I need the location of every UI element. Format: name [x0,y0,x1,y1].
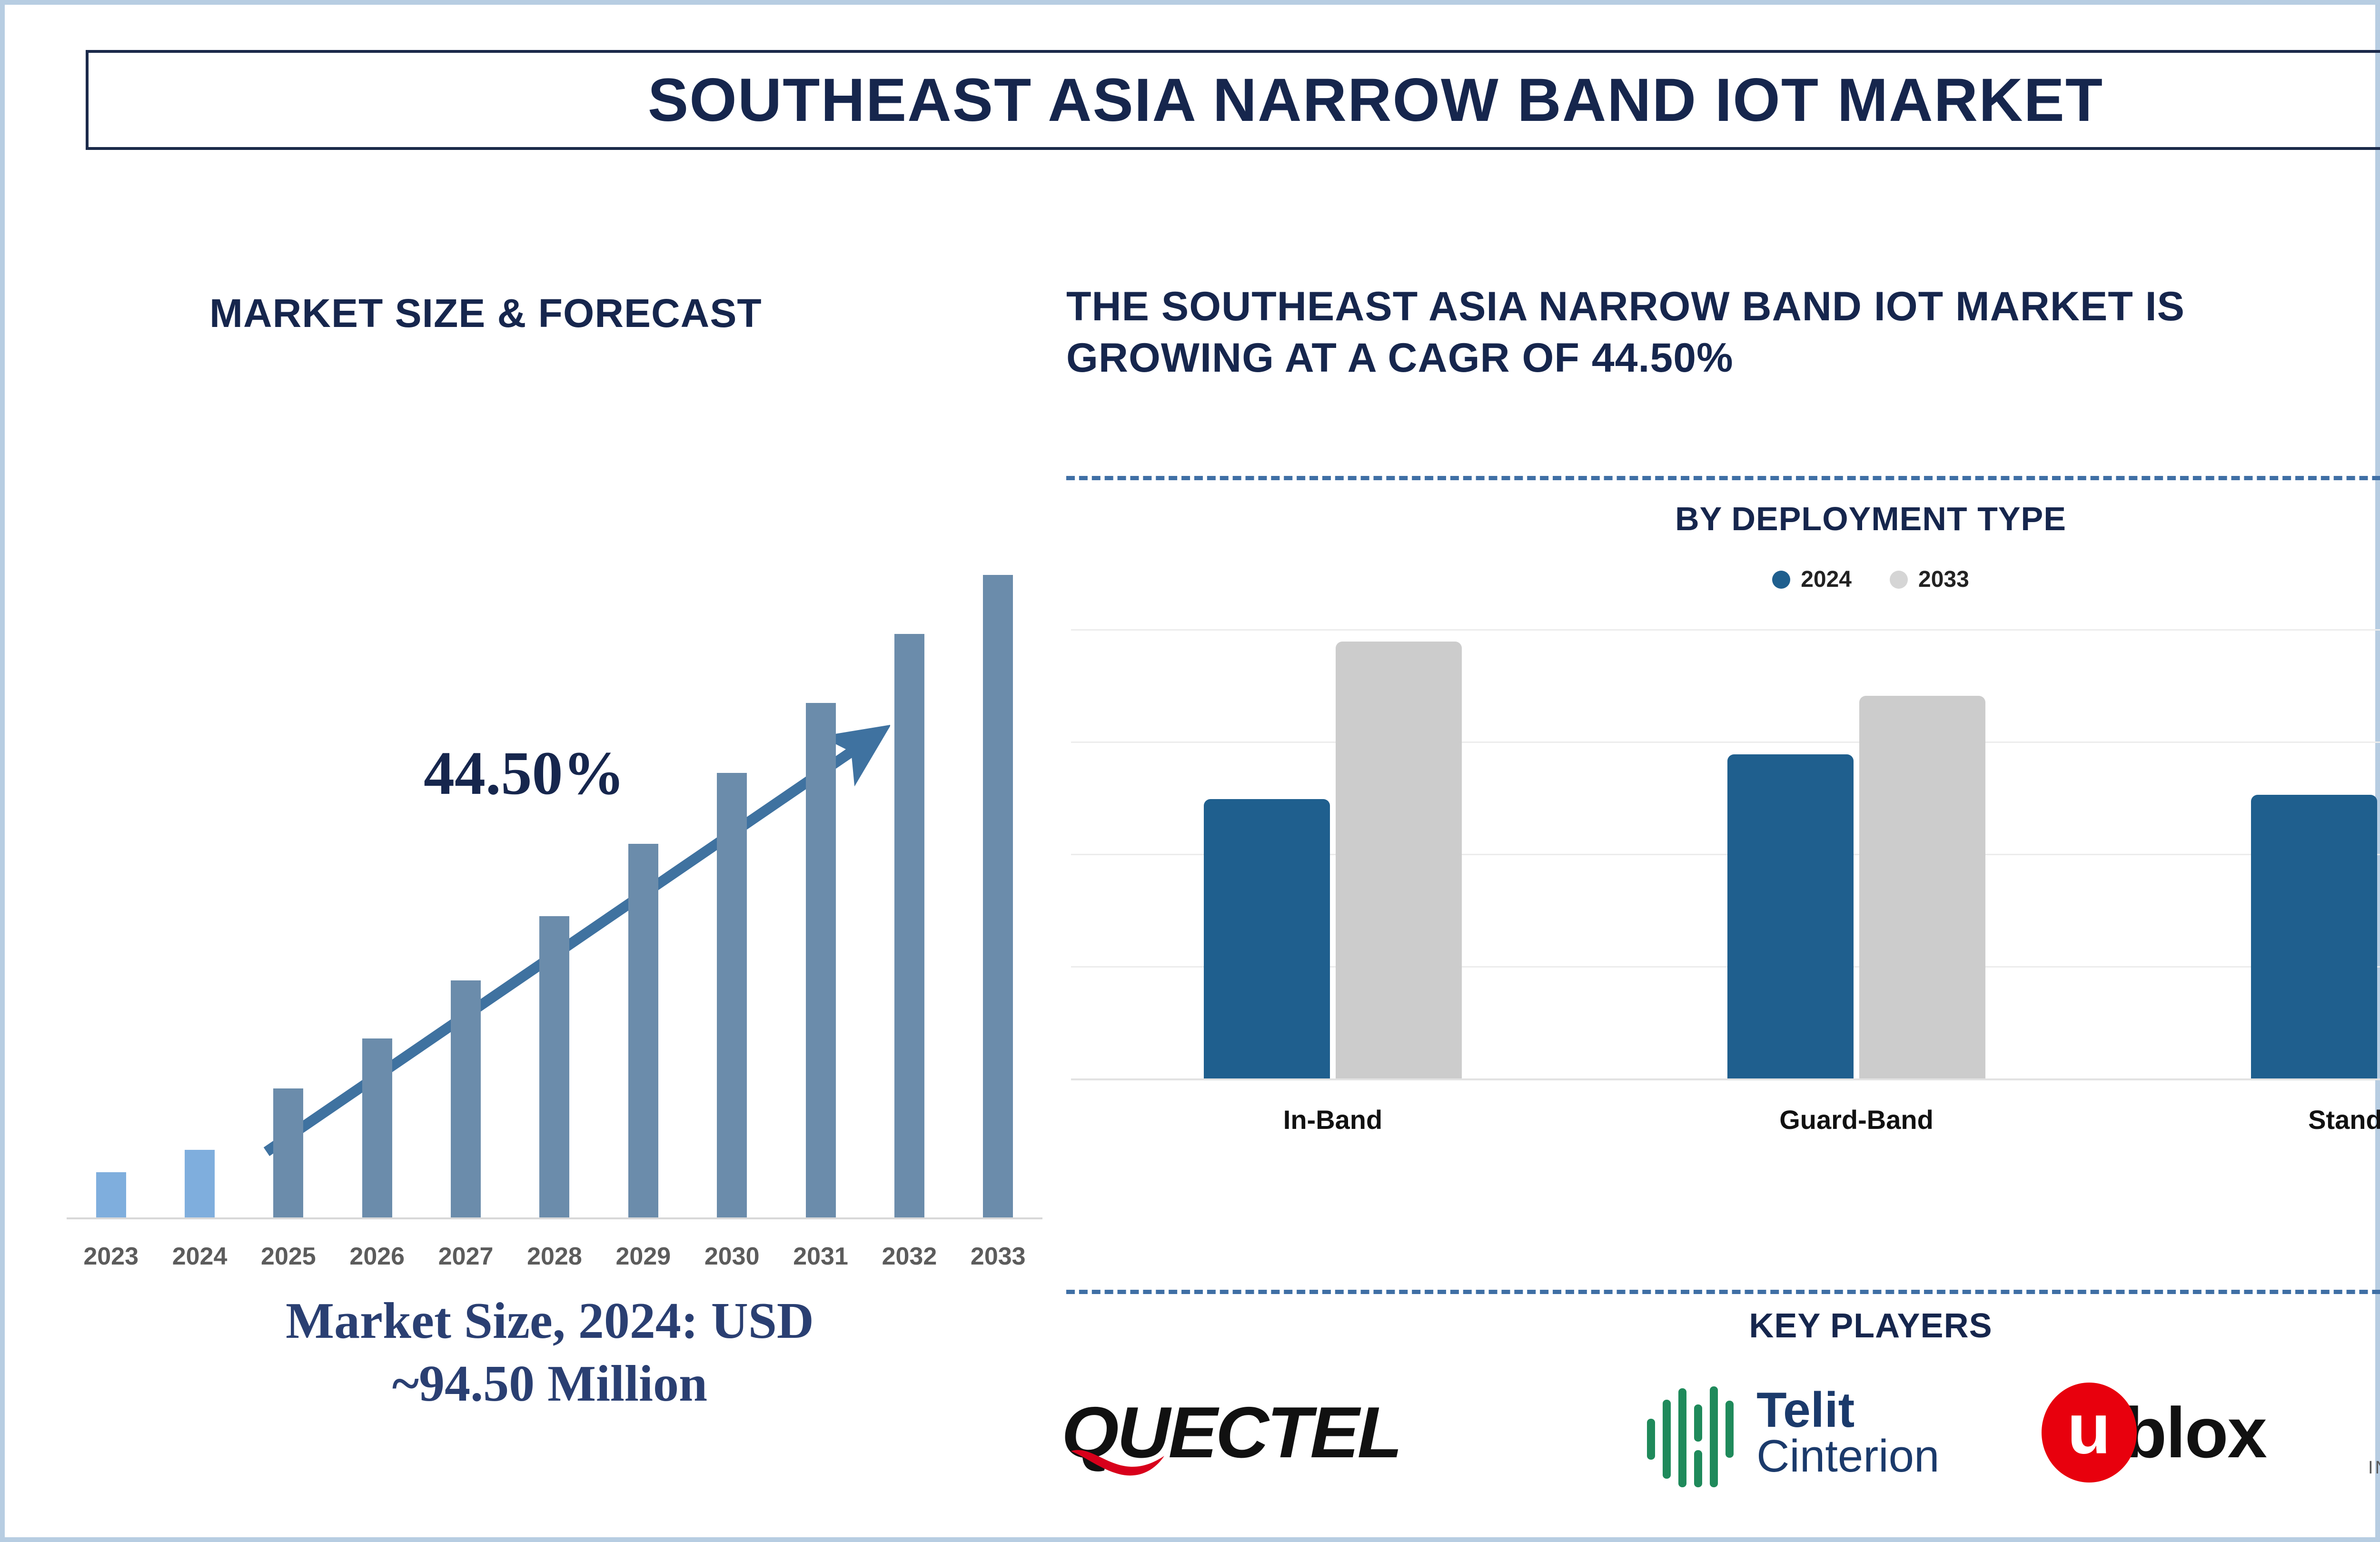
legend-item-2033[interactable]: 2033 [1890,566,1969,593]
legend-label-2033: 2033 [1918,566,1969,593]
page-title-box: SOUTHEAST ASIA NARROW BAND IOT MARKET [86,50,2380,150]
bar-2032 [894,634,924,1218]
bar-in-band-2033 [1336,642,1462,1078]
deployment-category-axis: In-Band Guard-Band Standalone [1071,1104,2380,1135]
ublox-wordmark: blox [2123,1392,2266,1474]
axis-tick-2023: 2023 [67,1242,155,1271]
key-players-heading: KEY PLAYERS [1066,1306,2380,1345]
telit-soundwave-icon [1644,1378,1744,1487]
bar-column [510,562,599,1218]
market-size-year-axis: 2023 2024 2025 2026 2027 2028 2029 2030 … [67,1242,1042,1271]
bar-guard-band-2024 [1727,754,1854,1078]
logo-ublox[interactable]: u blox [2042,1361,2266,1504]
deployment-bar-groups [1071,628,2380,1078]
bar-2024 [185,1150,215,1218]
market-size-forecast-heading: MARKET SIZE & FORECAST [209,290,762,336]
cinterion-wordmark: Cinterion [1756,1434,1939,1478]
bar-column [688,562,776,1218]
market-size-bars [67,562,1042,1218]
legend-dot-2024 [1772,571,1790,589]
axis-tick-2030: 2030 [688,1242,776,1271]
infographic-page: SOUTHEAST ASIA NARROW BAND IOT MARKET MA… [0,0,2380,1542]
bar-group-guard-band [1595,628,2118,1078]
category-label-standalone: Standalone [2118,1104,2380,1135]
ublox-u-letter: u [2067,1387,2111,1470]
axis-tick-2032: 2032 [865,1242,953,1271]
bar-2029 [628,844,658,1218]
market-size-2024-summary: Market Size, 2024: USD ~94.50 Million [52,1290,1047,1415]
bar-column [244,562,333,1218]
axis-tick-2024: 2024 [155,1242,244,1271]
bar-column [67,562,155,1218]
deployment-type-heading: BY DEPLOYMENT TYPE [1066,500,2380,538]
axis-tick-2025: 2025 [244,1242,333,1271]
deployment-legend: 2024 2033 [1066,566,2380,593]
bar-column [599,562,687,1218]
bar-2027 [451,980,481,1218]
divider-bottom [1066,1290,2380,1294]
bar-column [954,562,1042,1218]
market-size-line-2: ~94.50 Million [52,1353,1047,1415]
legend-label-2024: 2024 [1801,566,1852,593]
bar-2025 [273,1088,303,1218]
telit-wordmark: Telit [1756,1387,1939,1434]
category-label-in-band: In-Band [1071,1104,1595,1135]
market-size-bar-chart [67,557,1042,1237]
bar-group-in-band [1071,628,1595,1078]
legend-item-2024[interactable]: 2024 [1772,566,1852,593]
deployment-type-bar-chart: In-Band Guard-Band Standalone [1071,628,2380,1104]
right-panel: THE SOUTHEAST ASIA NARROW BAND IOT MARKE… [1066,252,2380,1518]
market-size-line-1: Market Size, 2024: USD [52,1290,1047,1353]
bar-in-band-2024 [1204,799,1330,1078]
murata-tagline: INNOVATOR IN ELECTRONICS [2368,1458,2380,1478]
bar-2026 [362,1038,392,1218]
bar-2023 [96,1172,126,1218]
logo-telit-cinterion[interactable]: Telit Cinterion [1644,1361,1939,1504]
bar-column [333,562,421,1218]
bar-column [155,562,244,1218]
category-label-guard-band: Guard-Band [1595,1104,2118,1135]
bar-column [421,562,510,1218]
legend-dot-2033 [1890,571,1908,589]
axis-tick-2029: 2029 [599,1242,687,1271]
bar-group-standalone [2118,628,2380,1078]
cagr-headline: THE SOUTHEAST ASIA NARROW BAND IOT MARKE… [1066,281,2380,384]
logo-murata[interactable]: muRata INNOVATOR IN ELECTRONICS [2368,1361,2380,1504]
axis-tick-2026: 2026 [333,1242,421,1271]
logo-quectel[interactable]: QUECTEL [1066,1361,1542,1504]
axis-tick-2033: 2033 [954,1242,1042,1271]
bar-2028 [539,916,569,1218]
axis-tick-2027: 2027 [421,1242,510,1271]
deployment-plot-area [1071,628,2380,1080]
key-players-logos: QUECTEL [1066,1361,2380,1504]
market-size-forecast-panel: MARKET SIZE & FORECAST 44.50% [52,252,1047,1509]
bar-2030 [717,773,747,1218]
ublox-circle-icon: u [2042,1383,2137,1483]
bar-guard-band-2033 [1859,696,1985,1078]
axis-tick-2031: 2031 [776,1242,865,1271]
bar-2031 [806,703,836,1218]
bar-column [865,562,953,1218]
axis-baseline [67,1217,1042,1219]
quectel-swoosh-icon [1069,1447,1179,1481]
page-title: SOUTHEAST ASIA NARROW BAND IOT MARKET [648,65,2103,135]
bar-standalone-2024 [2251,795,2377,1078]
divider-top [1066,476,2380,480]
axis-tick-2028: 2028 [510,1242,599,1271]
bar-2033 [983,575,1013,1218]
bar-column [776,562,865,1218]
axis-baseline [1071,1078,2380,1080]
